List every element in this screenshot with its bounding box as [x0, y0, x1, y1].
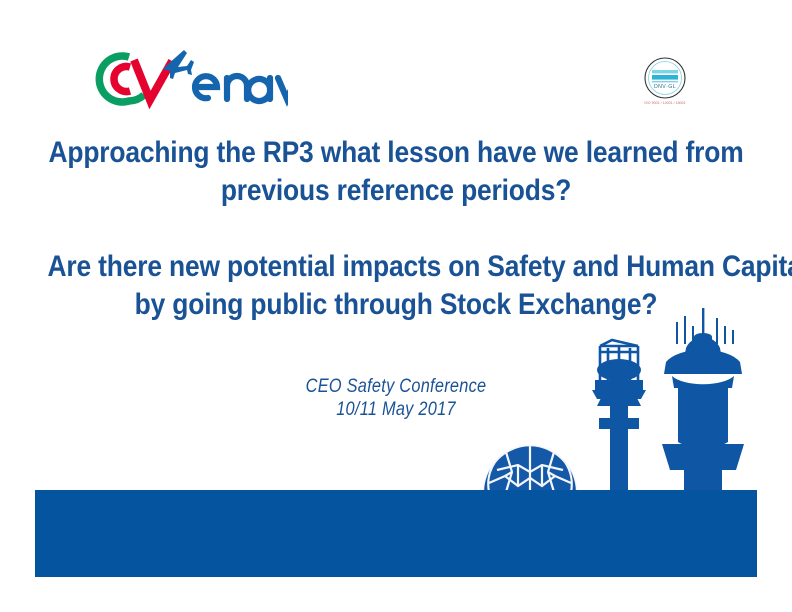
blue-footer-bar — [35, 490, 757, 577]
enav-logo — [88, 48, 288, 110]
certification-badge: DNV·GL ISO 9001 / 14001 / 18001 — [634, 54, 696, 106]
conference-date: 10/11 May 2017 — [55, 398, 736, 421]
badge-bar-mid — [652, 75, 678, 80]
logo-red-arc — [114, 67, 130, 92]
title-secondary-line-2: by going public through Stock Exchange? — [48, 286, 745, 324]
presentation-title-slide: DNV·GL ISO 9001 / 14001 / 18001 Approach… — [0, 0, 792, 612]
geodesic-radome — [483, 445, 577, 492]
badge-body-text: DNV·GL — [654, 84, 676, 90]
badge-bar-thin — [652, 81, 678, 82]
title-secondary-line-1: Are there new potential impacts on Safet… — [48, 248, 745, 286]
enav-wordmark — [195, 76, 288, 101]
title-primary-line-1: Approaching the RP3 what lesson have we … — [48, 134, 745, 172]
conference-info: CEO Safety Conference 10/11 May 2017 — [55, 375, 736, 421]
badge-standards-text: ISO 9001 / 14001 / 18001 — [644, 101, 685, 105]
page-title: Approaching the RP3 what lesson have we … — [48, 134, 745, 210]
title-primary-line-2: previous reference periods? — [48, 172, 745, 210]
conference-name: CEO Safety Conference — [55, 375, 736, 398]
badge-bar-top — [652, 70, 678, 73]
page-subtitle: Are there new potential impacts on Safet… — [48, 248, 745, 324]
